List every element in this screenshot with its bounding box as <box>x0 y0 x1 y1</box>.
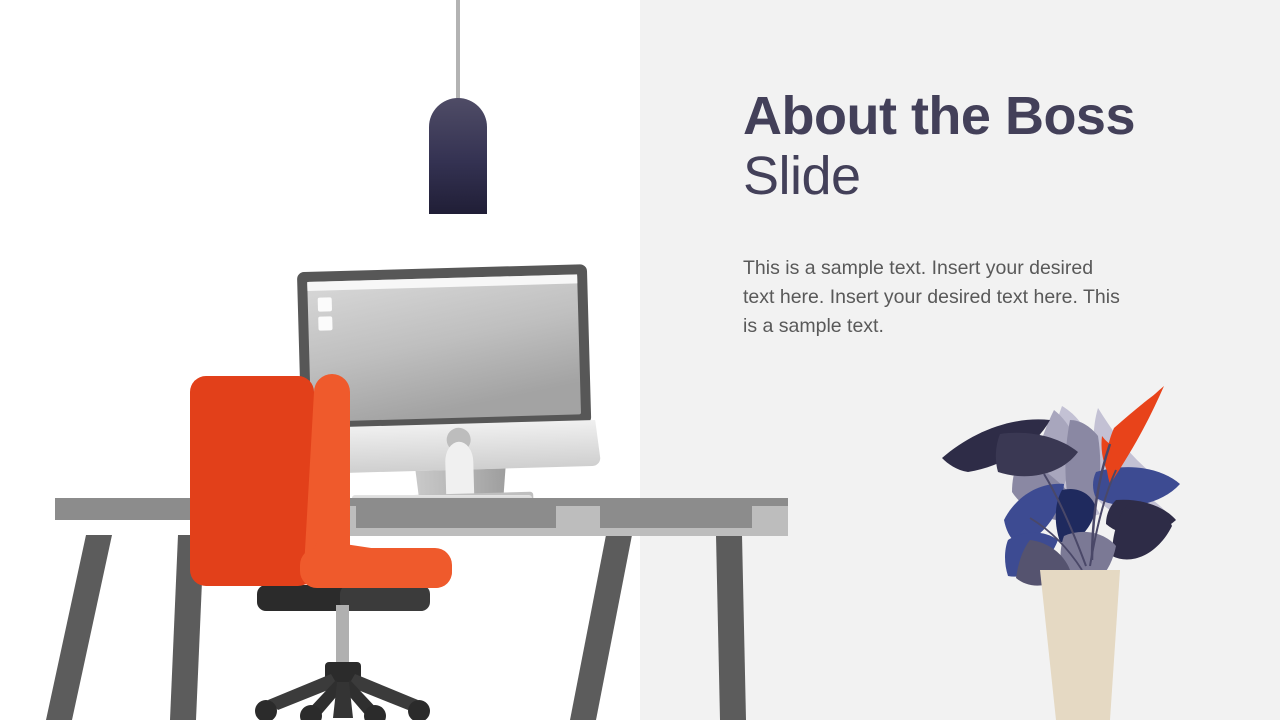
page-subtitle: Slide <box>743 146 1163 206</box>
text-content-block: About the Boss Slide This is a sample te… <box>743 86 1163 207</box>
background-panel-left <box>0 0 640 720</box>
slide-canvas: About the Boss Slide This is a sample te… <box>0 0 1280 720</box>
body-paragraph: This is a sample text. Insert your desir… <box>743 254 1123 341</box>
page-title: About the Boss <box>743 86 1163 146</box>
